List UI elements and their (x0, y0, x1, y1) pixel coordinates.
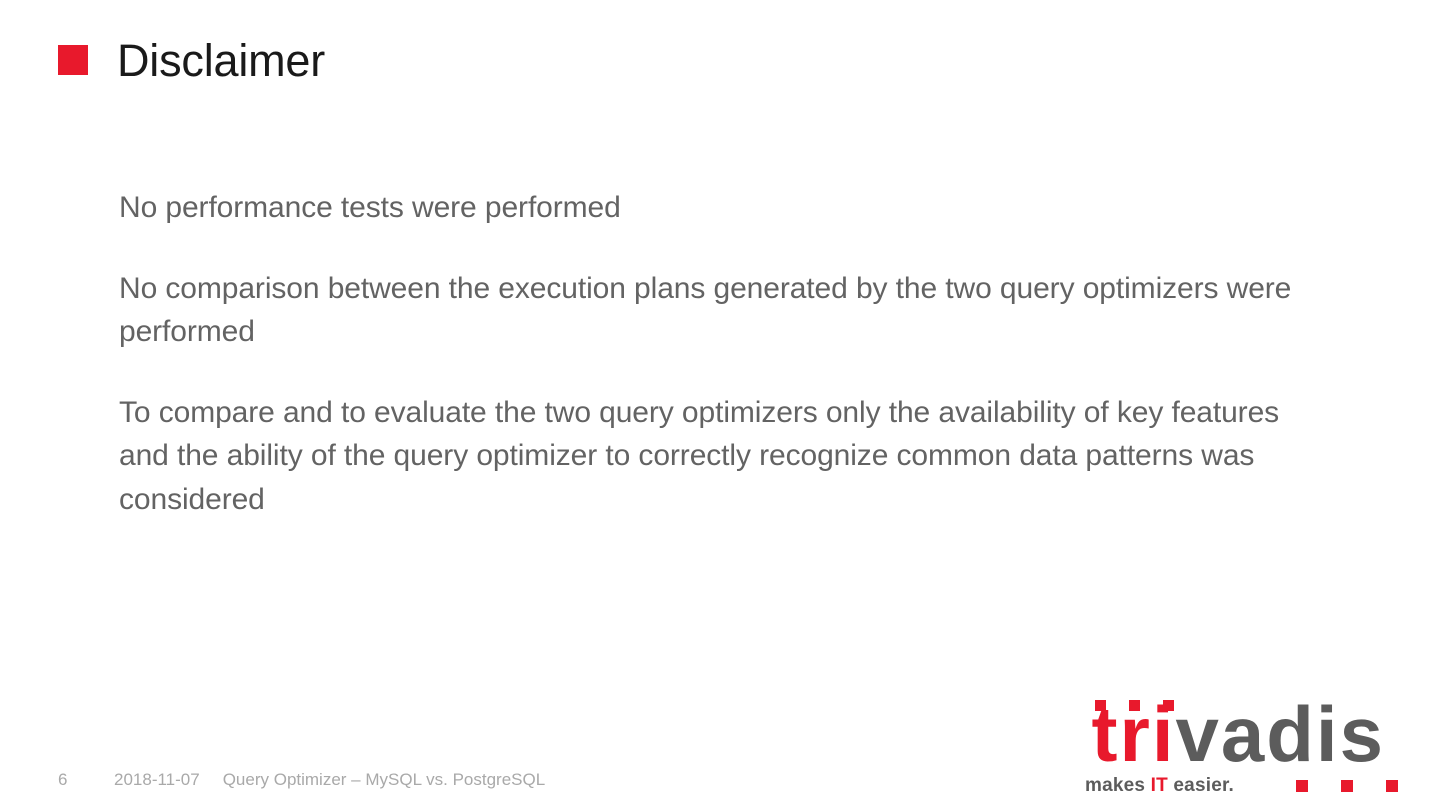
logo-squares-icon (1296, 780, 1398, 792)
logo-dot-1-icon (1095, 700, 1106, 711)
body-paragraph-1: No performance tests were performed (119, 186, 1349, 230)
trivadis-logo: trivadis makes IT easier. (1075, 696, 1385, 796)
slide-body: No performance tests were performed No c… (119, 186, 1349, 521)
logo-text-vadis: vadis (1176, 690, 1385, 778)
tagline-prefix: makes (1085, 775, 1151, 796)
page-title: Disclaimer (117, 38, 325, 83)
logo-square-1-icon (1296, 780, 1308, 792)
footer-deck-title: Query Optimizer – MySQL vs. PostgreSQL (223, 770, 545, 790)
body-paragraph-3: To compare and to evaluate the two query… (119, 391, 1334, 522)
red-square-bullet-icon (58, 45, 88, 75)
logo-dot-2-icon (1129, 700, 1140, 711)
slide-title-row: Disclaimer (58, 30, 325, 90)
logo-tagline: makes IT easier. (1085, 775, 1234, 797)
footer-page-number: 6 (58, 770, 114, 790)
body-paragraph-2: No comparison between the execution plan… (119, 267, 1299, 354)
tagline-suffix: easier. (1168, 775, 1234, 796)
logo-dots-icon (1095, 700, 1174, 711)
logo-wordmark: trivadis (1075, 696, 1385, 768)
logo-dot-3-icon (1163, 700, 1174, 711)
logo-wordmark-inner: trivadis (1092, 696, 1385, 772)
logo-square-2-icon (1341, 780, 1353, 792)
logo-tagline-row: makes IT easier. (1075, 775, 1385, 797)
logo-square-3-icon (1386, 780, 1398, 792)
slide-canvas: Disclaimer No performance tests were per… (0, 0, 1440, 810)
slide-footer: 6 2018-11-07 Query Optimizer – MySQL vs.… (58, 770, 545, 790)
footer-date: 2018-11-07 (114, 770, 200, 790)
tagline-accent: IT (1151, 775, 1168, 796)
